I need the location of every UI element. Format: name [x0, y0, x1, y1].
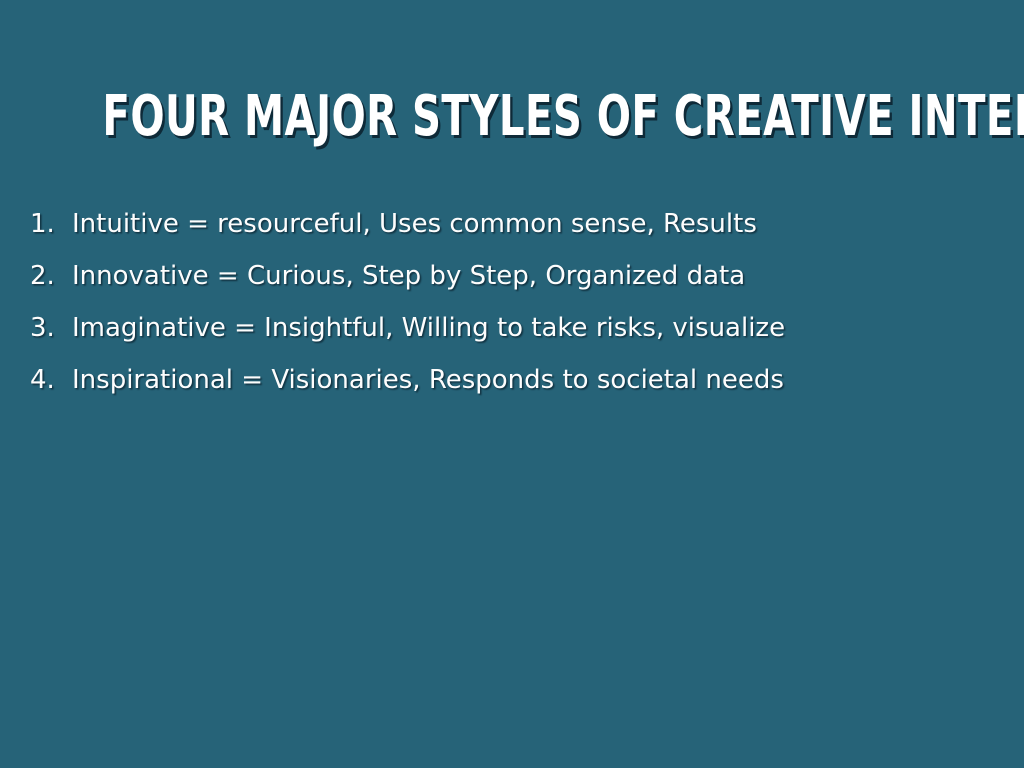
slide-canvas: FOUR MAJOR STYLES OF CREATIVE INTELLIGEN… [0, 0, 1024, 768]
list-item-number: 2. [0, 250, 72, 302]
page-title: FOUR MAJOR STYLES OF CREATIVE INTELLIGEN… [102, 85, 921, 149]
list-item: 4. Inspirational = Visionaries, Responds… [0, 354, 1024, 406]
list-item-label: Imaginative = Insightful, Willing to tak… [72, 302, 1024, 354]
list-item-number: 3. [0, 302, 72, 354]
numbered-list: 1. Intuitive = resourceful, Uses common … [0, 198, 1024, 406]
list-item-label: Innovative = Curious, Step by Step, Orga… [72, 250, 1024, 302]
list-item-label: Intuitive = resourceful, Uses common sen… [72, 198, 1024, 250]
list-item-number: 1. [0, 198, 72, 250]
list-item-number: 4. [0, 354, 72, 406]
list-item: 1. Intuitive = resourceful, Uses common … [0, 198, 1024, 250]
list-item: 3. Imaginative = Insightful, Willing to … [0, 302, 1024, 354]
list-item-label: Inspirational = Visionaries, Responds to… [72, 354, 1024, 406]
list-item: 2. Innovative = Curious, Step by Step, O… [0, 250, 1024, 302]
